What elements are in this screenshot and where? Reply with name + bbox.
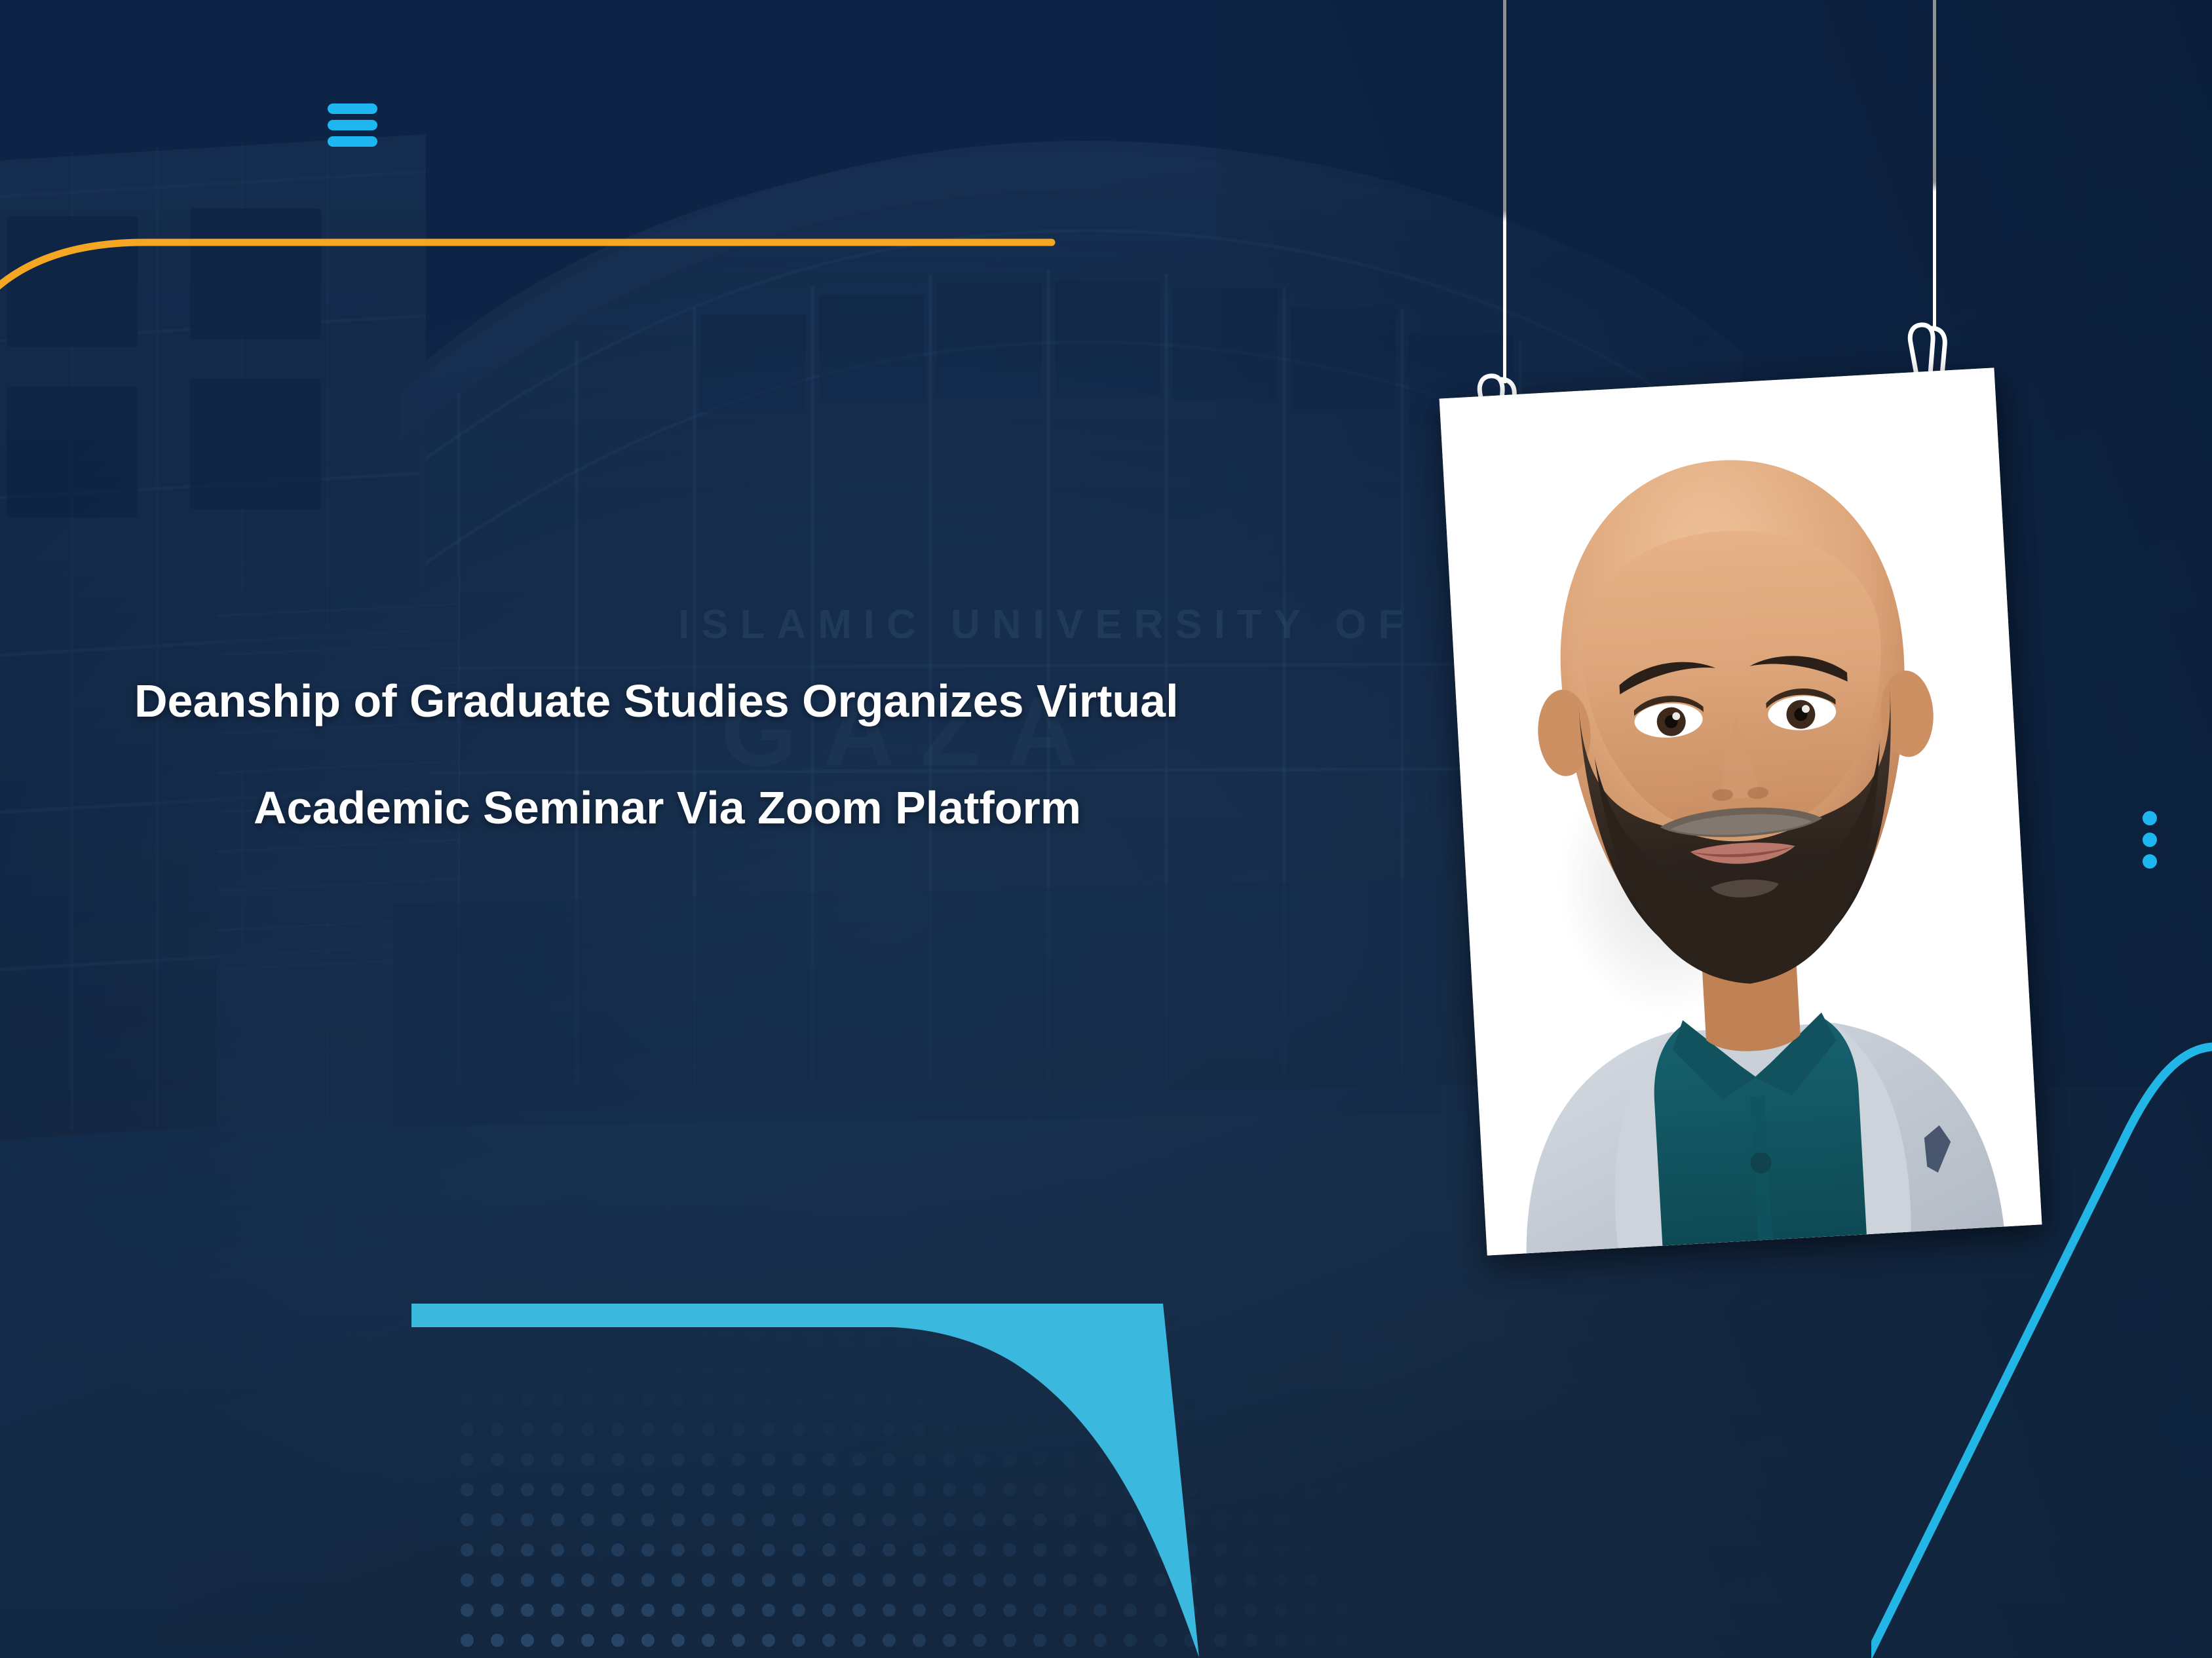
- kebab-dot-1: [2143, 811, 2157, 825]
- page-title-line-2: Academic Seminar Via Zoom Platform: [254, 785, 1379, 831]
- slide-canvas: ISLAMIC UNIVERSITY OF GAZA: [0, 0, 2212, 1658]
- hamburger-menu-icon[interactable]: [328, 104, 377, 147]
- kebab-more-vertical-icon[interactable]: [2143, 811, 2157, 869]
- hamburger-bar-3: [328, 136, 377, 147]
- kebab-dot-2: [2143, 833, 2157, 847]
- kebab-dot-3: [2143, 854, 2157, 869]
- hamburger-bar-1: [328, 104, 377, 114]
- building-watermark-line1: ISLAMIC UNIVERSITY OF: [678, 601, 1415, 648]
- hamburger-bar-2: [328, 120, 377, 130]
- page-title: Deanship of Graduate Studies Organizes V…: [134, 678, 1379, 831]
- page-title-line-1: Deanship of Graduate Studies Organizes V…: [134, 678, 1379, 724]
